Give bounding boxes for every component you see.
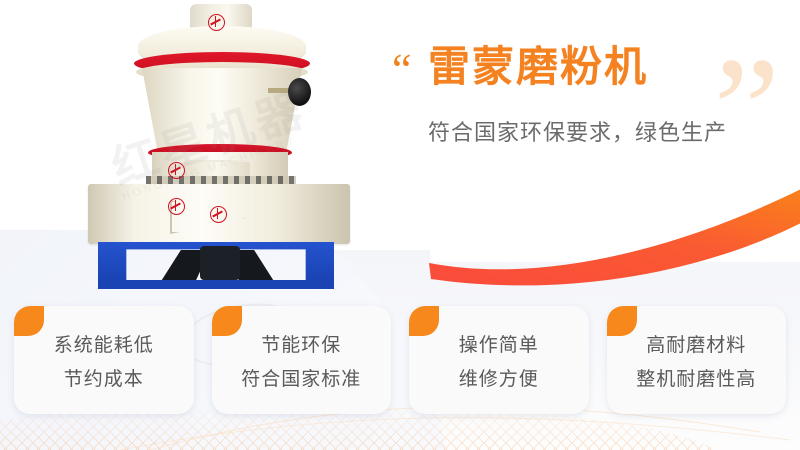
leaf-accent-icon [607, 306, 637, 336]
headline-block: ” “ 雷蒙磨粉机 符合国家环保要求，绿色生产 [384, 34, 794, 174]
feature-line-1: 节能环保 [261, 330, 341, 357]
banner-stage: 红星机器 HONGXING MACHINERY ★★★ ” “ 雷蒙磨粉机 符合… [0, 0, 800, 450]
feature-card[interactable]: 节能环保 符合国家标准 [212, 306, 392, 414]
feature-line-1: 操作简单 [459, 330, 539, 357]
feature-line-2: 节约成本 [64, 364, 144, 391]
feature-card[interactable]: 高耐磨材料 整机耐磨性高 [607, 306, 787, 414]
machine-brand-logo-icon [210, 206, 227, 223]
decorative-quote-icon: ” [713, 52, 780, 169]
feature-line-1: 系统能耗低 [54, 330, 154, 357]
machine-cone-body [142, 68, 302, 154]
machine-frame-base-bar [98, 280, 334, 289]
feature-line-2: 维修方便 [459, 364, 539, 391]
page-subtitle: 符合国家环保要求，绿色生产 [428, 122, 727, 144]
orange-swoosh-decoration [395, 185, 800, 310]
page-title: 雷蒙磨粉机 [428, 46, 648, 88]
machine-motor-block [200, 246, 240, 280]
feature-line-1: 高耐磨材料 [646, 330, 746, 357]
machine-brand-logo-icon [168, 162, 185, 179]
feature-card-list: 系统能耗低 节约成本 节能环保 符合国家标准 操作简单 维修方便 高耐磨材料 整… [14, 306, 786, 414]
leaf-accent-icon [212, 306, 242, 336]
feature-line-2: 整机耐磨性高 [636, 364, 756, 391]
machine-brand-logo-icon [168, 198, 185, 215]
feature-card[interactable]: 操作简单 维修方便 [409, 306, 589, 414]
machine-handwheel [288, 78, 311, 106]
feature-card[interactable]: 系统能耗低 节约成本 [14, 306, 194, 414]
leaf-accent-icon [409, 306, 439, 336]
opening-quote-icon: “ [392, 48, 412, 92]
machine-brand-logo-icon [208, 14, 225, 31]
leaf-accent-icon [14, 306, 44, 336]
feature-line-2: 符合国家标准 [241, 364, 361, 391]
product-image-raymond-mill [60, 0, 380, 300]
